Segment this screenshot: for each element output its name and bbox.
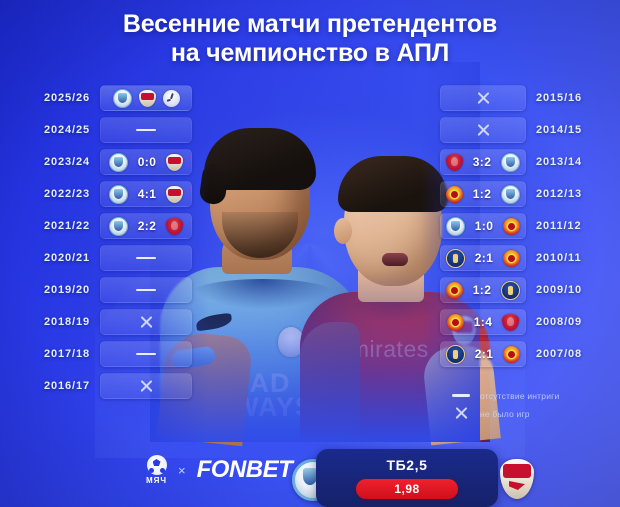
man-city-badge-icon <box>109 217 128 236</box>
season-label: 2012/13 <box>526 188 618 200</box>
match-score: 2:1 <box>472 251 496 265</box>
season-label: 2015/16 <box>526 92 618 104</box>
match-score: 1:2 <box>470 187 494 201</box>
arsenal-badge-icon <box>139 90 156 107</box>
season-label: 2014/15 <box>526 124 618 136</box>
man-utd-badge-icon <box>446 186 463 203</box>
season-row[interactable]: 3:22013/14 <box>440 150 618 174</box>
season-row[interactable]: 2023/240:0 <box>6 150 192 174</box>
partner-logos: МЯЧ × FONBET <box>146 455 292 485</box>
season-row[interactable]: 2024/25 <box>6 118 192 142</box>
odds-panel[interactable]: ТБ2,5 1,98 <box>316 449 498 507</box>
season-label: 2023/24 <box>6 156 100 168</box>
match-score: 3:2 <box>470 155 494 169</box>
man-utd-badge-icon <box>446 282 463 299</box>
season-row[interactable]: 2019/20 <box>6 278 192 302</box>
match-score: 4:1 <box>135 187 159 201</box>
season-row[interactable]: 1:02011/12 <box>440 214 618 238</box>
season-label: 2016/17 <box>6 380 100 392</box>
match-card[interactable] <box>100 341 192 367</box>
arsenal-badge-icon <box>166 186 183 203</box>
season-label: 2020/21 <box>6 252 100 264</box>
title-line-2: на чемпионство в АПЛ <box>0 39 620 68</box>
logo-separator: × <box>178 463 186 478</box>
man-city-badge-icon <box>501 185 520 204</box>
season-row[interactable]: 2020/21 <box>6 246 192 270</box>
season-row[interactable]: 1:42008/09 <box>440 310 618 334</box>
page-title: Весенние матчи претендентов на чемпионст… <box>0 10 620 68</box>
legend-key <box>452 406 470 421</box>
season-row[interactable]: 1:22012/13 <box>440 182 618 206</box>
season-row[interactable]: 2014/15 <box>440 118 618 142</box>
season-label: 2008/09 <box>526 316 618 328</box>
dash-icon <box>136 257 156 260</box>
season-label: 2007/08 <box>526 348 618 360</box>
arsenal-badge-icon <box>166 154 183 171</box>
poster-root: ETIHAD AIRWAYS Emirates <box>0 0 620 507</box>
dash-icon <box>452 394 470 397</box>
match-card[interactable] <box>440 117 526 143</box>
season-row[interactable]: 2015/16 <box>440 86 618 110</box>
myach-logo: МЯЧ <box>146 455 167 485</box>
myach-label: МЯЧ <box>146 476 167 485</box>
match-card[interactable] <box>100 309 192 335</box>
match-card[interactable]: 2:1 <box>440 245 526 271</box>
man-utd-badge-icon <box>447 314 464 331</box>
match-card[interactable] <box>100 117 192 143</box>
season-row[interactable]: 2022/234:1 <box>6 182 192 206</box>
match-score: 1:0 <box>472 219 496 233</box>
season-label: 2011/12 <box>526 220 618 232</box>
chelsea-badge-icon <box>446 249 465 268</box>
fonbet-logo: FONBET <box>197 456 293 484</box>
man-utd-badge-icon <box>503 346 520 363</box>
match-score: 2:2 <box>135 219 159 233</box>
season-row[interactable]: 2:12010/11 <box>440 246 618 270</box>
cross-icon <box>139 315 154 330</box>
chelsea-badge-icon <box>446 345 465 364</box>
season-label: 2009/10 <box>526 284 618 296</box>
match-score: 1:4 <box>471 315 495 329</box>
match-card[interactable]: 4:1 <box>100 181 192 207</box>
match-card[interactable]: 1:2 <box>440 181 526 207</box>
season-row[interactable]: 2018/19 <box>6 310 192 334</box>
dash-icon <box>136 353 156 356</box>
season-label: 2024/25 <box>6 124 100 136</box>
cross-icon <box>476 91 491 106</box>
football-icon <box>147 455 167 475</box>
season-label: 2025/26 <box>6 92 100 104</box>
arsenal-badge-icon <box>500 459 534 499</box>
dash-icon <box>136 289 156 292</box>
match-card[interactable] <box>440 85 526 111</box>
season-label: 2022/23 <box>6 188 100 200</box>
footer-bar: МЯЧ × FONBET ТБ2,5 1,98 <box>0 441 620 507</box>
bet-odds-button[interactable]: 1,98 <box>356 479 458 499</box>
legend-text: не было игр <box>480 409 530 419</box>
liverpool-badge-icon <box>446 154 463 171</box>
man-utd-badge-icon <box>503 218 520 235</box>
season-row[interactable]: 1:22009/10 <box>440 278 618 302</box>
season-label: 2010/11 <box>526 252 618 264</box>
cross-icon <box>454 406 469 421</box>
title-line-1: Весенние матчи претендентов <box>0 10 620 39</box>
legend: отсутствие интригине было игр <box>452 388 559 424</box>
man-city-badge-icon <box>113 89 132 108</box>
man-city-badge-icon <box>446 217 465 236</box>
legend-text: отсутствие интриги <box>480 391 559 401</box>
cross-icon <box>476 123 491 138</box>
season-label: 2017/18 <box>6 348 100 360</box>
match-score: 1:2 <box>470 283 494 297</box>
season-list-left: 2025/262024/252023/240:02022/234:12021/2… <box>6 86 192 406</box>
match-card[interactable] <box>100 277 192 303</box>
legend-item: отсутствие интриги <box>452 388 559 403</box>
season-row[interactable]: 2025/26 <box>6 86 192 110</box>
clock-icon <box>163 90 180 107</box>
season-label: 2018/19 <box>6 316 100 328</box>
legend-item: не было игр <box>452 406 559 421</box>
match-card[interactable]: 1:2 <box>440 277 526 303</box>
match-card[interactable]: 1:4 <box>440 309 526 335</box>
match-score: 0:0 <box>135 155 159 169</box>
man-city-badge-icon <box>501 153 520 172</box>
man-city-badge-icon <box>109 153 128 172</box>
match-card[interactable] <box>100 245 192 271</box>
liverpool-badge-icon <box>166 218 183 235</box>
match-card[interactable]: 2:1 <box>440 341 526 367</box>
match-card[interactable]: 0:0 <box>100 149 192 175</box>
legend-key <box>452 394 470 397</box>
cross-icon <box>139 379 154 394</box>
footer-away-team-badge <box>500 459 536 497</box>
chelsea-badge-icon <box>501 281 520 300</box>
match-card[interactable]: 2:2 <box>100 213 192 239</box>
season-label: 2021/22 <box>6 220 100 232</box>
match-card[interactable] <box>100 85 192 111</box>
season-list-right: 2015/162014/153:22013/141:22012/131:0201… <box>440 86 618 374</box>
man-city-badge-icon <box>109 185 128 204</box>
season-row[interactable]: 2021/222:2 <box>6 214 192 238</box>
dash-icon <box>136 129 156 132</box>
season-row[interactable]: 2017/18 <box>6 342 192 366</box>
season-row[interactable]: 2016/17 <box>6 374 192 398</box>
man-utd-badge-icon <box>503 250 520 267</box>
season-label: 2019/20 <box>6 284 100 296</box>
match-score: 2:1 <box>472 347 496 361</box>
match-card[interactable]: 3:2 <box>440 149 526 175</box>
match-card[interactable]: 1:0 <box>440 213 526 239</box>
liverpool-badge-icon <box>502 314 519 331</box>
bet-market-label: ТБ2,5 <box>316 457 498 473</box>
season-label: 2013/14 <box>526 156 618 168</box>
match-card[interactable] <box>100 373 192 399</box>
season-row[interactable]: 2:12007/08 <box>440 342 618 366</box>
